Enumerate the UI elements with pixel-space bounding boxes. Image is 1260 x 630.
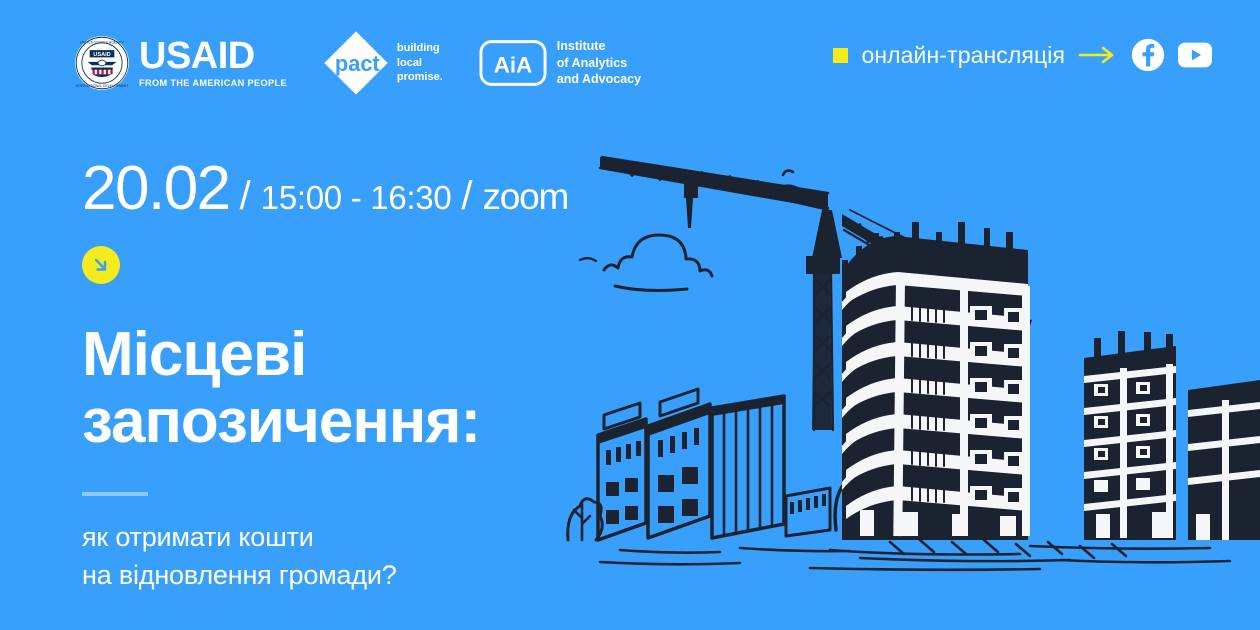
aia-tagline-line3: and Advocacy bbox=[557, 71, 641, 88]
arrow-right-icon bbox=[1078, 45, 1118, 65]
svg-text:UNITED STATES AGENCY: UNITED STATES AGENCY bbox=[80, 40, 125, 44]
pact-tagline-line3: promise. bbox=[397, 70, 443, 85]
page-subtitle: як отримати кошти на відновлення громади… bbox=[82, 518, 642, 595]
secondary-building-skeleton bbox=[1084, 331, 1260, 540]
svg-text:AiA: AiA bbox=[494, 53, 532, 78]
usaid-wordmark: USAID bbox=[139, 38, 287, 74]
svg-text:pact: pact bbox=[335, 51, 380, 76]
construction-site-illustration: .ink { fill: #1b2330; } .inkst { stroke:… bbox=[560, 110, 1260, 630]
pact-tagline-line2: local bbox=[397, 56, 443, 71]
yellow-square-bullet-icon bbox=[833, 48, 848, 63]
headline-line-2: запозичення: bbox=[82, 389, 642, 456]
dateline-separator-2: / bbox=[461, 176, 472, 216]
arrow-down-right-badge bbox=[82, 246, 120, 284]
usaid-seal-icon: UNITED STATES AGENCY INTERNATIONAL DEVEL… bbox=[74, 35, 130, 91]
ground-line bbox=[600, 540, 1230, 570]
aia-tagline-line2: of Analytics bbox=[557, 55, 641, 72]
unfinished-high-rise bbox=[842, 222, 1030, 540]
tower-crane bbox=[600, 157, 1032, 430]
event-date: 20.02 bbox=[82, 158, 230, 220]
svg-text:INTERNATIONAL DEVELOPMENT: INTERNATIONAL DEVELOPMENT bbox=[76, 84, 129, 88]
title-divider bbox=[82, 492, 148, 496]
arrow-down-right-icon bbox=[91, 255, 111, 275]
event-platform: zoom bbox=[483, 178, 569, 215]
event-time: 15:00 - 16:30 bbox=[261, 181, 452, 214]
facebook-icon[interactable] bbox=[1131, 38, 1165, 72]
header-logo-row: UNITED STATES AGENCY INTERNATIONAL DEVEL… bbox=[74, 30, 641, 96]
broadcast-label: онлайн-трансляція bbox=[861, 42, 1065, 69]
dateline-separator-1: / bbox=[240, 176, 251, 216]
headline-line-1: Місцеві bbox=[82, 322, 642, 389]
page-title: Місцеві запозичення: bbox=[82, 322, 642, 456]
subtitle-line-2: на відновлення громади? bbox=[82, 556, 642, 594]
youtube-icon[interactable] bbox=[1178, 38, 1212, 72]
usaid-tagline: FROM THE AMERICAN PEOPLE bbox=[139, 78, 287, 88]
event-content: 20.02 / 15:00 - 16:30 / zoom Місцеві зап… bbox=[82, 158, 642, 595]
broadcast-strip: онлайн-трансляція bbox=[833, 38, 1212, 72]
subtitle-line-1: як отримати кошти bbox=[82, 518, 642, 556]
aia-tagline: Institute of Analytics and Advocacy bbox=[557, 38, 641, 88]
pact-tagline: building local promise. bbox=[397, 41, 443, 85]
pact-logo: pact building local promise. bbox=[323, 30, 443, 96]
webinar-banner: .ink { fill: #1b2330; } .inkst { stroke:… bbox=[0, 0, 1260, 630]
event-dateline: 20.02 / 15:00 - 16:30 / zoom bbox=[82, 158, 642, 220]
aia-tagline-line1: Institute bbox=[557, 38, 641, 55]
aia-logo: AiA Institute of Analytics and Advocacy bbox=[479, 38, 641, 88]
usaid-logo: UNITED STATES AGENCY INTERNATIONAL DEVEL… bbox=[74, 35, 287, 91]
aia-badge-icon: AiA bbox=[479, 38, 547, 88]
pact-diamond-icon: pact bbox=[323, 30, 389, 96]
pact-tagline-line1: building bbox=[397, 41, 443, 56]
svg-text:USAID: USAID bbox=[93, 52, 110, 58]
